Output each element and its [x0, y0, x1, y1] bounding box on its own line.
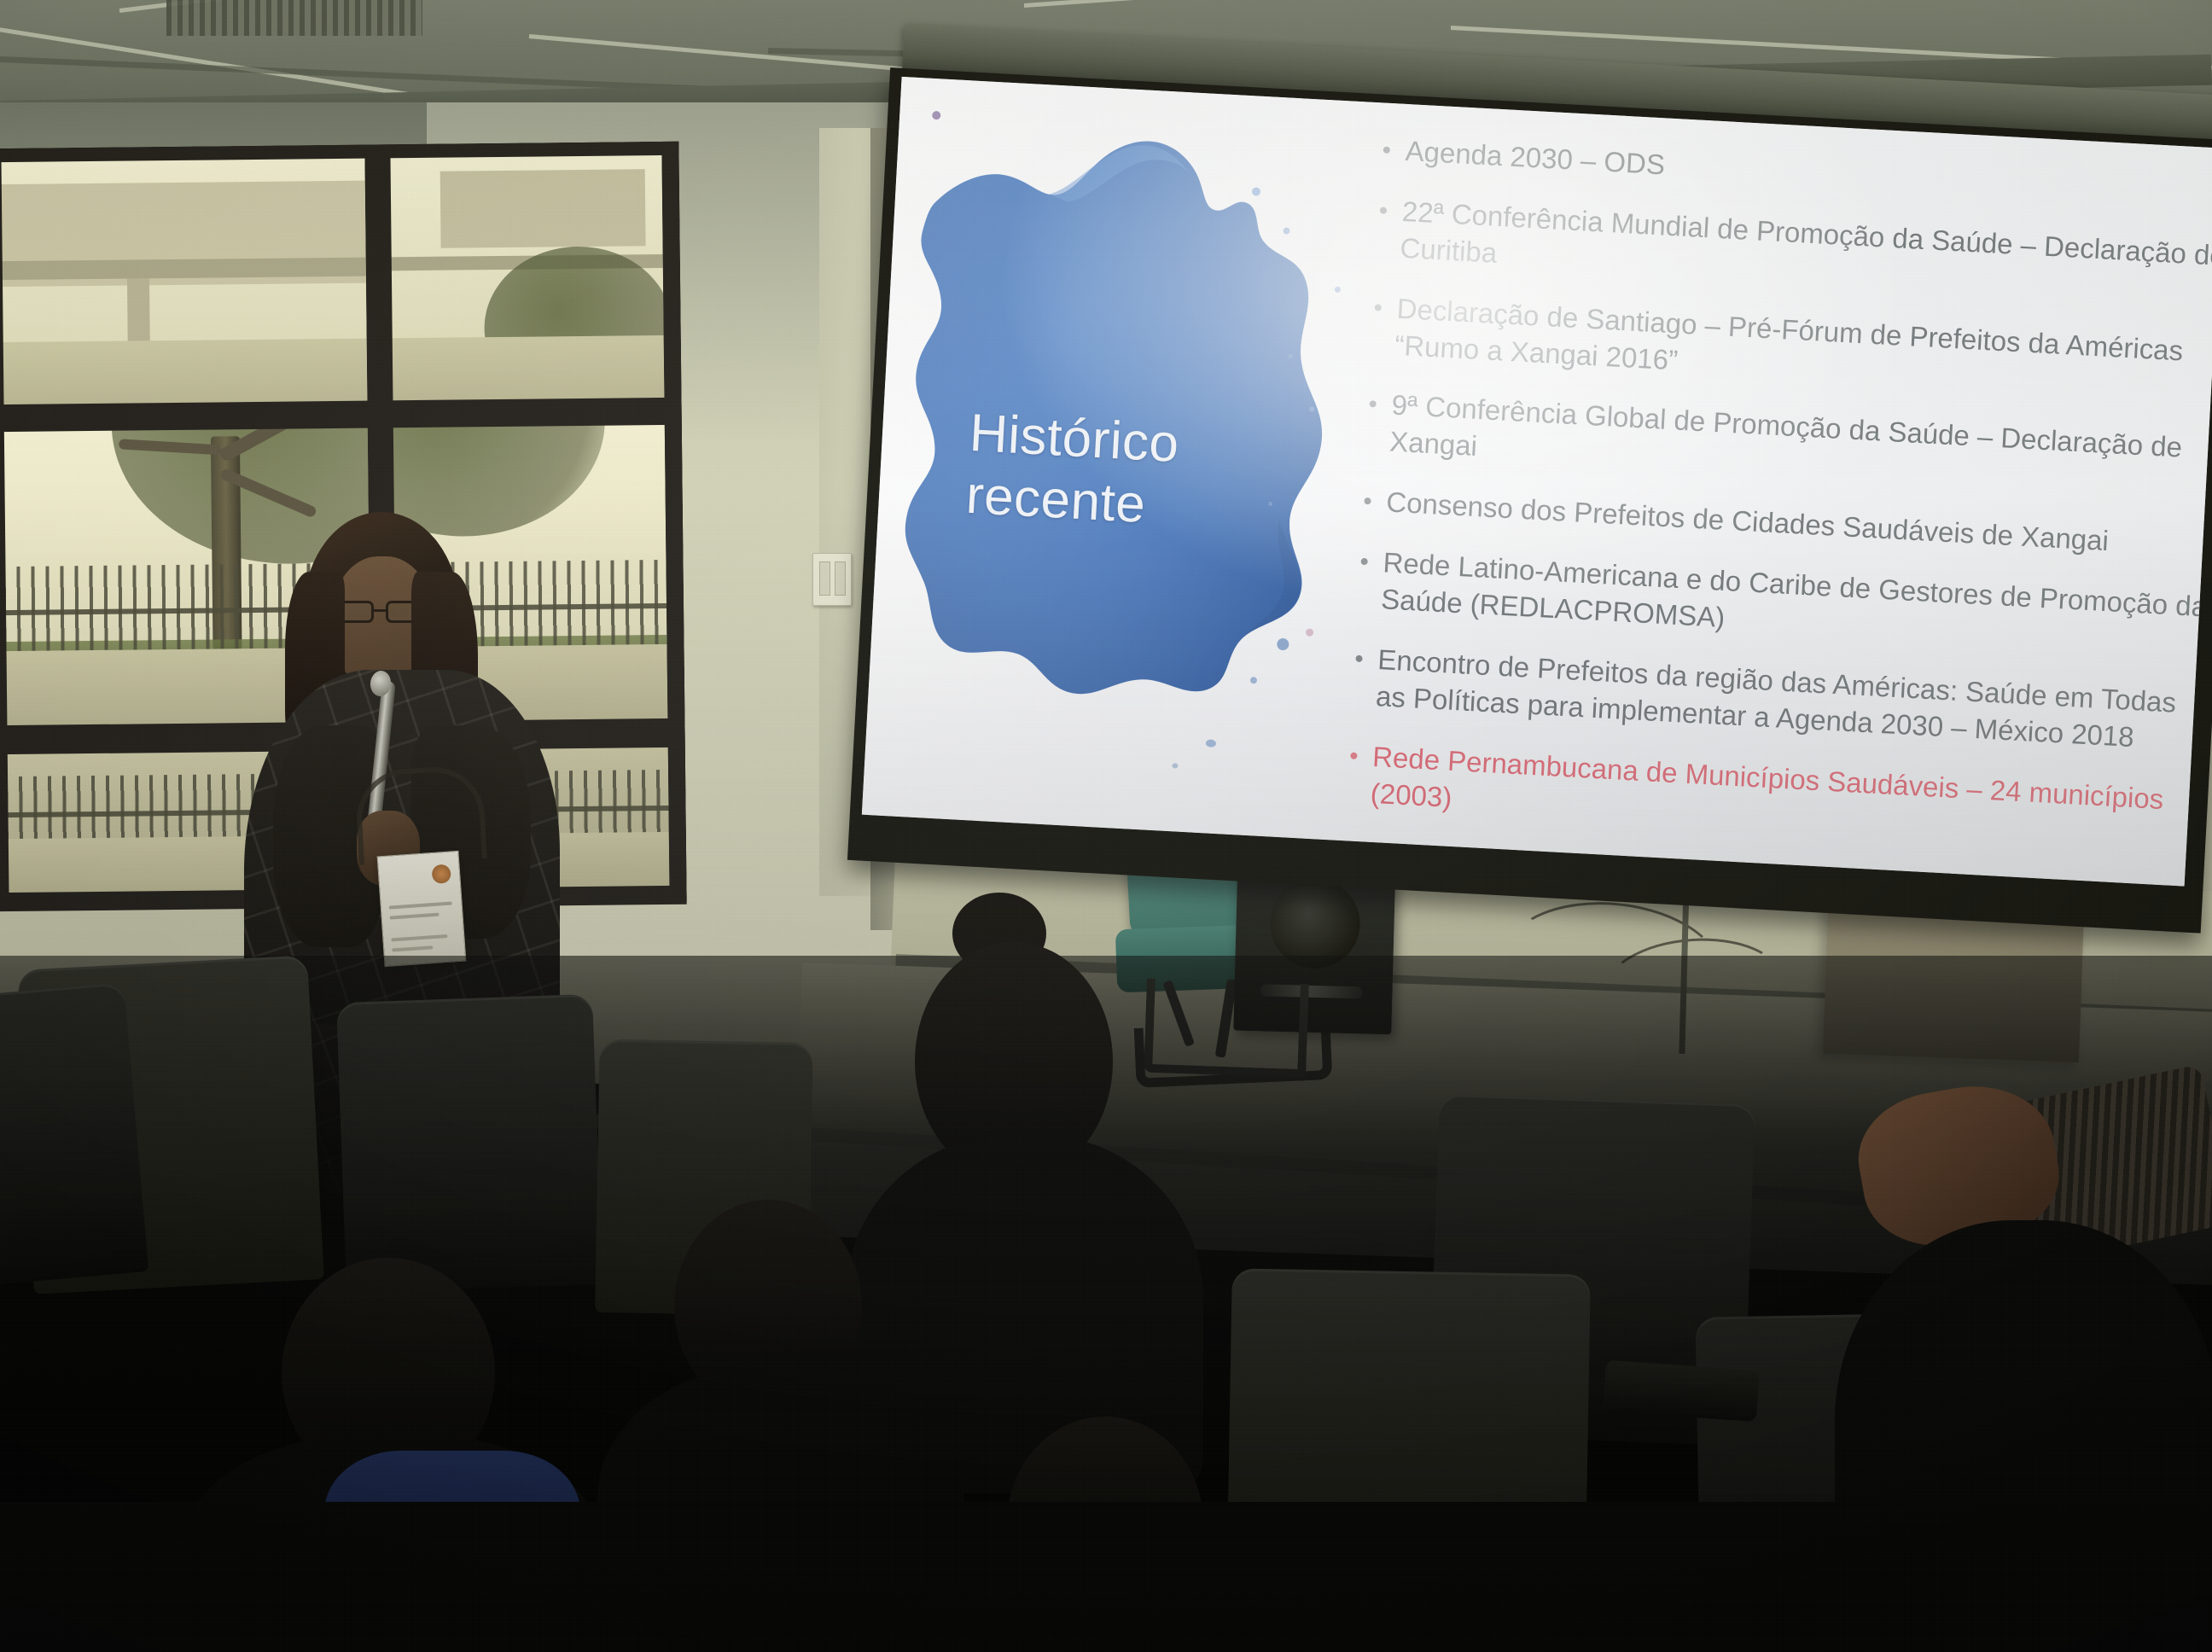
slide-title: Histórico recente	[964, 402, 1252, 542]
projector-screen-assembly: Histórico recente Agenda 20	[856, 24, 2212, 999]
auditorium-seat	[0, 982, 148, 1288]
slide-bullet-6: Rede Latino-Americana e do Caribe de Ges…	[1351, 544, 2212, 663]
auditorium-seat	[336, 994, 602, 1293]
light-switch-left[interactable]	[819, 561, 830, 596]
slide-bullet-list: Agenda 2030 – ODS 22ª Conferência Mundia…	[1339, 131, 2212, 881]
light-switch-right[interactable]	[835, 561, 846, 596]
audience-foreground-mass	[0, 1502, 2212, 1652]
slide-bullet-2: 22ª Conferência Mundial de Promoção da S…	[1371, 192, 2212, 311]
slide-bullet-7: Encontro de Prefeitos da região das Amér…	[1346, 640, 2210, 759]
photo-scene: Histórico recente Agenda 20	[0, 0, 2212, 1652]
projection-surface: Histórico recente Agenda 20	[862, 77, 2212, 887]
projector-screen-frame: Histórico recente Agenda 20	[847, 67, 2212, 934]
presentation-slide: Histórico recente Agenda 20	[862, 77, 2212, 887]
wall-light-switches[interactable]	[812, 553, 852, 606]
slide-bullet-8-highlighted: Rede Pernambucana de Municípios Saudávei…	[1341, 737, 2205, 857]
slide-bullet-3: Declaração de Santiago – Pré-Fórum de Pr…	[1365, 289, 2212, 409]
ceiling-vent	[166, 0, 422, 36]
splatter-dot	[1206, 739, 1216, 747]
slide-bullet-4: 9ª Conferência Global de Promoção da Saú…	[1359, 386, 2212, 505]
seat-armrest	[1603, 1360, 1760, 1422]
name-badge-lanyard	[377, 851, 467, 967]
badge-logo-icon	[431, 864, 451, 884]
splatter-dot	[1172, 763, 1178, 768]
slide-ink-blob: Histórico recente	[894, 98, 1352, 718]
